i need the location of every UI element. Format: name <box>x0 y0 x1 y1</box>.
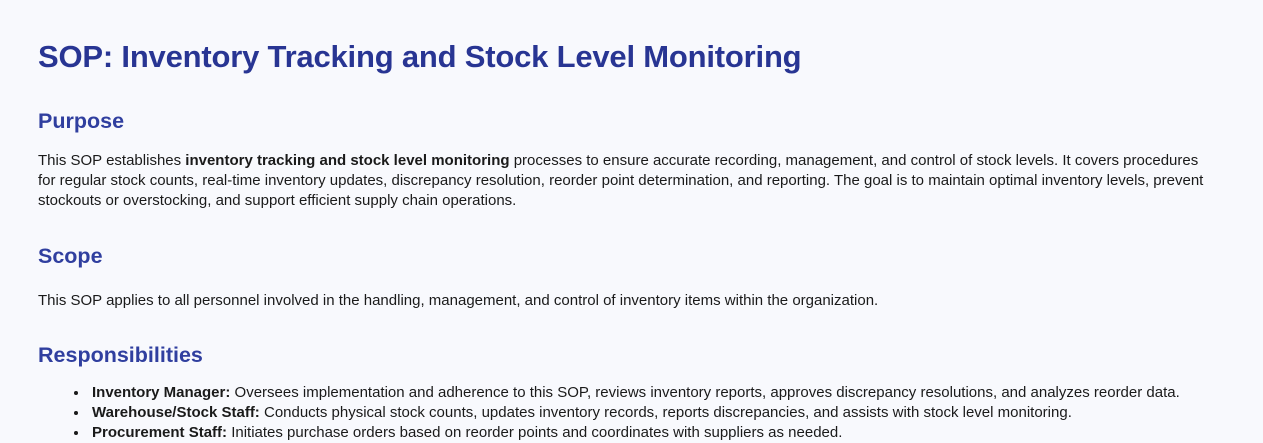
list-item-description: Initiates purchase orders based on reord… <box>227 424 842 441</box>
document-page: SOP: Inventory Tracking and Stock Level … <box>0 0 1263 443</box>
list-item-description: Oversees implementation and adherence to… <box>230 384 1179 401</box>
list-item-role: Procurement Staff: <box>92 424 227 441</box>
list-item: Procurement Staff: Initiates purchase or… <box>68 423 1205 443</box>
responsibilities-list: Inventory Manager: Oversees implementati… <box>38 369 1205 443</box>
purpose-paragraph-emphasis: inventory tracking and stock level monit… <box>185 152 509 169</box>
list-item-role: Warehouse/Stock Staff: <box>92 404 260 421</box>
section-heading-responsibilities: Responsibilities <box>38 311 1205 369</box>
purpose-paragraph: This SOP establishes inventory tracking … <box>38 135 1205 211</box>
list-item: Warehouse/Stock Staff: Conducts physical… <box>68 403 1205 423</box>
page-title: SOP: Inventory Tracking and Stock Level … <box>38 0 1205 75</box>
bullet-icon <box>74 411 78 415</box>
section-heading-purpose: Purpose <box>38 75 1205 135</box>
bullet-icon <box>74 391 78 395</box>
list-item-description: Conducts physical stock counts, updates … <box>260 404 1072 421</box>
list-item: Inventory Manager: Oversees implementati… <box>68 383 1205 403</box>
list-item-role: Inventory Manager: <box>92 384 230 401</box>
section-heading-scope: Scope <box>38 211 1205 270</box>
purpose-paragraph-lead: This SOP establishes <box>38 152 185 169</box>
bullet-icon <box>74 431 78 435</box>
scope-paragraph: This SOP applies to all personnel involv… <box>38 270 1205 311</box>
